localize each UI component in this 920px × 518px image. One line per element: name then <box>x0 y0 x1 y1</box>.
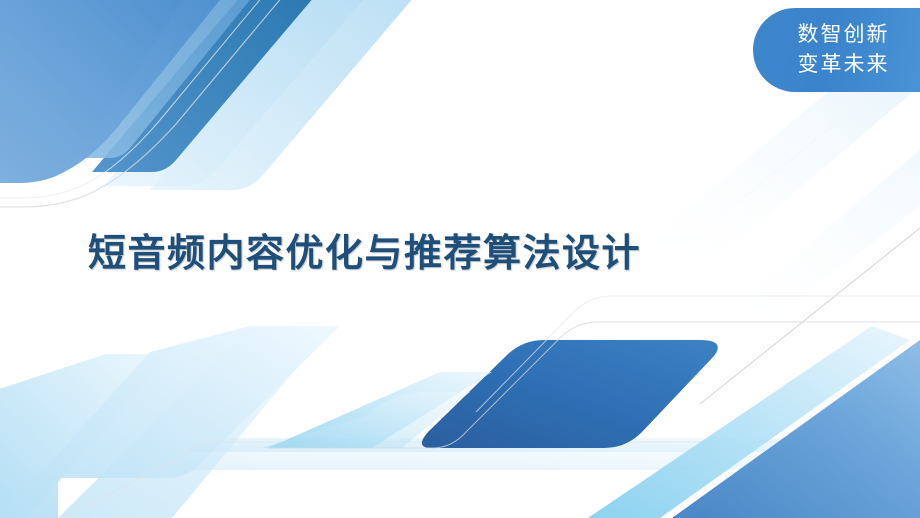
badge-line-1: 数智创新 <box>798 20 890 50</box>
slide-title: 短音频内容优化与推荐算法设计 <box>88 229 828 279</box>
corner-badge: 数智创新 变革未来 <box>753 8 920 92</box>
badge-line-2: 变革未来 <box>798 50 890 80</box>
slide-canvas: 数智创新 变革未来 短音频内容优化与推荐算法设计 <box>0 0 920 518</box>
